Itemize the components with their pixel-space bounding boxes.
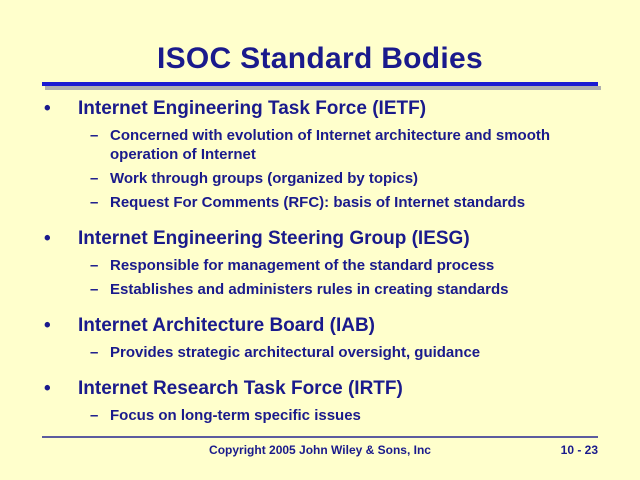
title-divider-line — [42, 82, 598, 86]
bullet-level2: – Responsible for management of the stan… — [0, 256, 640, 275]
bullet-level2: – Request For Comments (RFC): basis of I… — [0, 193, 640, 212]
bullet-level1: • Internet Architecture Board (IAB) — [0, 313, 640, 338]
bullet-dot-icon: • — [44, 226, 51, 251]
group-spacer — [0, 299, 640, 306]
bullet-level1-label: Internet Architecture Board (IAB) — [78, 315, 375, 336]
bullet-dot-icon: • — [44, 96, 51, 121]
slide: ISOC Standard Bodies • Internet Engineer… — [0, 0, 640, 480]
bullet-dot-icon: • — [44, 376, 51, 401]
bullet-level2-label: Establishes and administers rules in cre… — [110, 281, 508, 298]
bullet-level1-label: Internet Engineering Steering Group (IES… — [78, 228, 470, 249]
bullet-level1-label: Internet Research Task Force (IRTF) — [78, 378, 403, 399]
bullet-level2: – Provides strategic architectural overs… — [0, 343, 640, 362]
bullet-level2-label: Focus on long-term specific issues — [110, 407, 361, 424]
footer: Copyright 2005 John Wiley & Sons, Inc 10… — [0, 443, 640, 463]
slide-body: • Internet Engineering Task Force (IETF)… — [0, 96, 640, 425]
page-title: ISOC Standard Bodies — [0, 42, 640, 76]
bullet-dot-icon: • — [44, 313, 51, 338]
dash-icon: – — [90, 280, 98, 299]
bullet-level1: • Internet Engineering Task Force (IETF) — [0, 96, 640, 121]
dash-icon: – — [90, 169, 98, 188]
title-divider-shadow — [45, 86, 601, 90]
copyright-text: Copyright 2005 John Wiley & Sons, Inc — [0, 443, 640, 457]
group-spacer — [0, 212, 640, 219]
bullet-level2-label: Responsible for management of the standa… — [110, 257, 494, 274]
dash-icon: – — [90, 343, 98, 362]
bullet-level2-label: Work through groups (organized by topics… — [110, 170, 418, 187]
bullet-level1: • Internet Research Task Force (IRTF) — [0, 376, 640, 401]
title-divider — [42, 82, 598, 90]
footer-divider — [42, 436, 598, 438]
bullet-level2: – Establishes and administers rules in c… — [0, 280, 640, 299]
bullet-level2: – Focus on long-term specific issues — [0, 406, 640, 425]
bullet-level2-label: Concerned with evolution of Internet arc… — [110, 127, 550, 163]
bullet-level2: – Work through groups (organized by topi… — [0, 169, 640, 188]
dash-icon: – — [90, 126, 98, 145]
bullet-level2-label: Request For Comments (RFC): basis of Int… — [110, 194, 525, 211]
dash-icon: – — [90, 406, 98, 425]
group-spacer — [0, 362, 640, 369]
dash-icon: – — [90, 193, 98, 212]
bullet-level1-label: Internet Engineering Task Force (IETF) — [78, 98, 426, 119]
bullet-level1: • Internet Engineering Steering Group (I… — [0, 226, 640, 251]
page-number: 10 - 23 — [561, 443, 598, 457]
dash-icon: – — [90, 256, 98, 275]
bullet-level2-label: Provides strategic architectural oversig… — [110, 344, 480, 361]
bullet-level2: – Concerned with evolution of Internet a… — [0, 126, 640, 164]
